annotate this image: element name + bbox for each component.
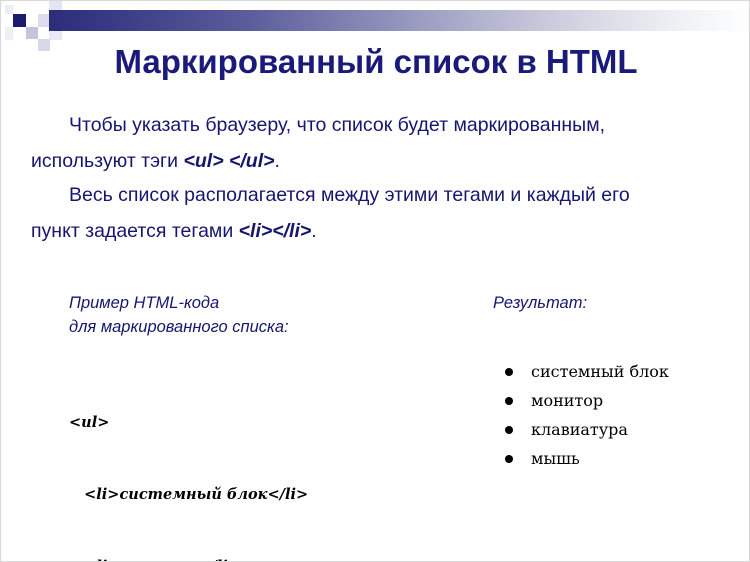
bullet-icon: [505, 368, 513, 376]
slide-header-decoration: [1, 1, 750, 49]
result-column: Результат: системный блок монитор клавиа…: [493, 291, 743, 489]
list-item: клавиатура: [501, 415, 743, 444]
paragraph-2-text-before: Весь список располагается между этими те…: [31, 184, 630, 242]
paragraph-1-text-after: .: [275, 150, 280, 172]
list-item-label: мышь: [531, 449, 580, 468]
lavender-square-a: [26, 27, 38, 39]
bullet-icon: [505, 455, 513, 463]
dark-navy-square: [13, 14, 26, 27]
result-heading: Результат:: [493, 291, 743, 315]
list-item: монитор: [501, 386, 743, 415]
slide-title: Маркированный список в HTML: [1, 43, 750, 81]
paragraph-1-text-before: Чтобы указать браузеру, что список будет…: [31, 114, 605, 172]
rendered-bulleted-list: системный блок монитор клавиатура мышь: [501, 357, 743, 473]
paragraph-2-text-after: .: [311, 220, 316, 242]
paragraph-1-tag-ul: <ul> </ul>: [183, 150, 274, 172]
lavender-square-d: [49, 1, 62, 10]
paragraph-1: Чтобы указать браузеру, что список будет…: [31, 107, 641, 179]
code-example-column: Пример HTML-кода для маркированного спис…: [69, 291, 459, 562]
pale-square-a: [5, 5, 13, 14]
pale-square-b: [5, 27, 13, 40]
presentation-slide: Маркированный список в HTML Чтобы указат…: [0, 0, 750, 562]
list-item: мышь: [501, 444, 743, 473]
list-item-label: клавиатура: [531, 420, 628, 439]
html-code-listing: <ul> <li>системный блок</li> <li>монитор…: [69, 363, 459, 562]
code-line: <li>монитор</li>: [69, 555, 459, 562]
list-item-label: системный блок: [531, 362, 669, 381]
paragraph-2: Весь список располагается между этими те…: [31, 177, 641, 249]
lavender-square-c: [38, 14, 49, 27]
code-example-heading-line-2: для маркированного списка:: [69, 315, 459, 339]
code-line: <li>системный блок</li>: [69, 483, 459, 507]
gradient-bar-decoration: [49, 10, 750, 31]
bullet-icon: [505, 397, 513, 405]
lavender-square-f: [49, 31, 62, 40]
bullet-icon: [505, 426, 513, 434]
paragraph-2-tag-li: <li></li>: [239, 220, 312, 242]
list-item-label: монитор: [531, 391, 603, 410]
code-example-heading-line-1: Пример HTML-кода: [69, 291, 459, 315]
code-line: <ul>: [69, 411, 459, 435]
list-item: системный блок: [501, 357, 743, 386]
